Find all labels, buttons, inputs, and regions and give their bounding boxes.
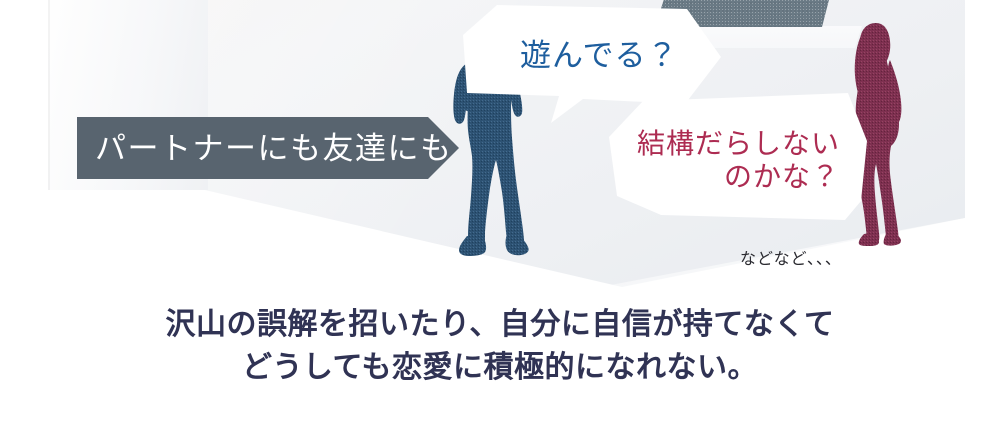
background-edge-line [48,0,50,190]
caption-line-1: 沢山の誤解を招いたり、自分に自信が持てなくて [0,304,1000,347]
arrow-banner-label: パートナーにも友達にも [95,133,453,164]
slide-canvas: パートナーにも友達にも [0,0,1000,427]
caption-line-2: どうしても恋愛に積極的になれない。 [0,347,1000,390]
speech-bubble-sloppy-text: 結構だらしない のかな？ [628,128,840,194]
caption-block: 沢山の誤解を招いたり、自分に自信が持てなくて どうしても恋愛に積極的になれない。 [0,304,1000,389]
etcetera-note: などなど、、、 [740,245,842,269]
arrow-banner: パートナーにも友達にも [77,117,459,179]
speech-bubble-playing-text: 遊んでる？ [520,38,678,75]
